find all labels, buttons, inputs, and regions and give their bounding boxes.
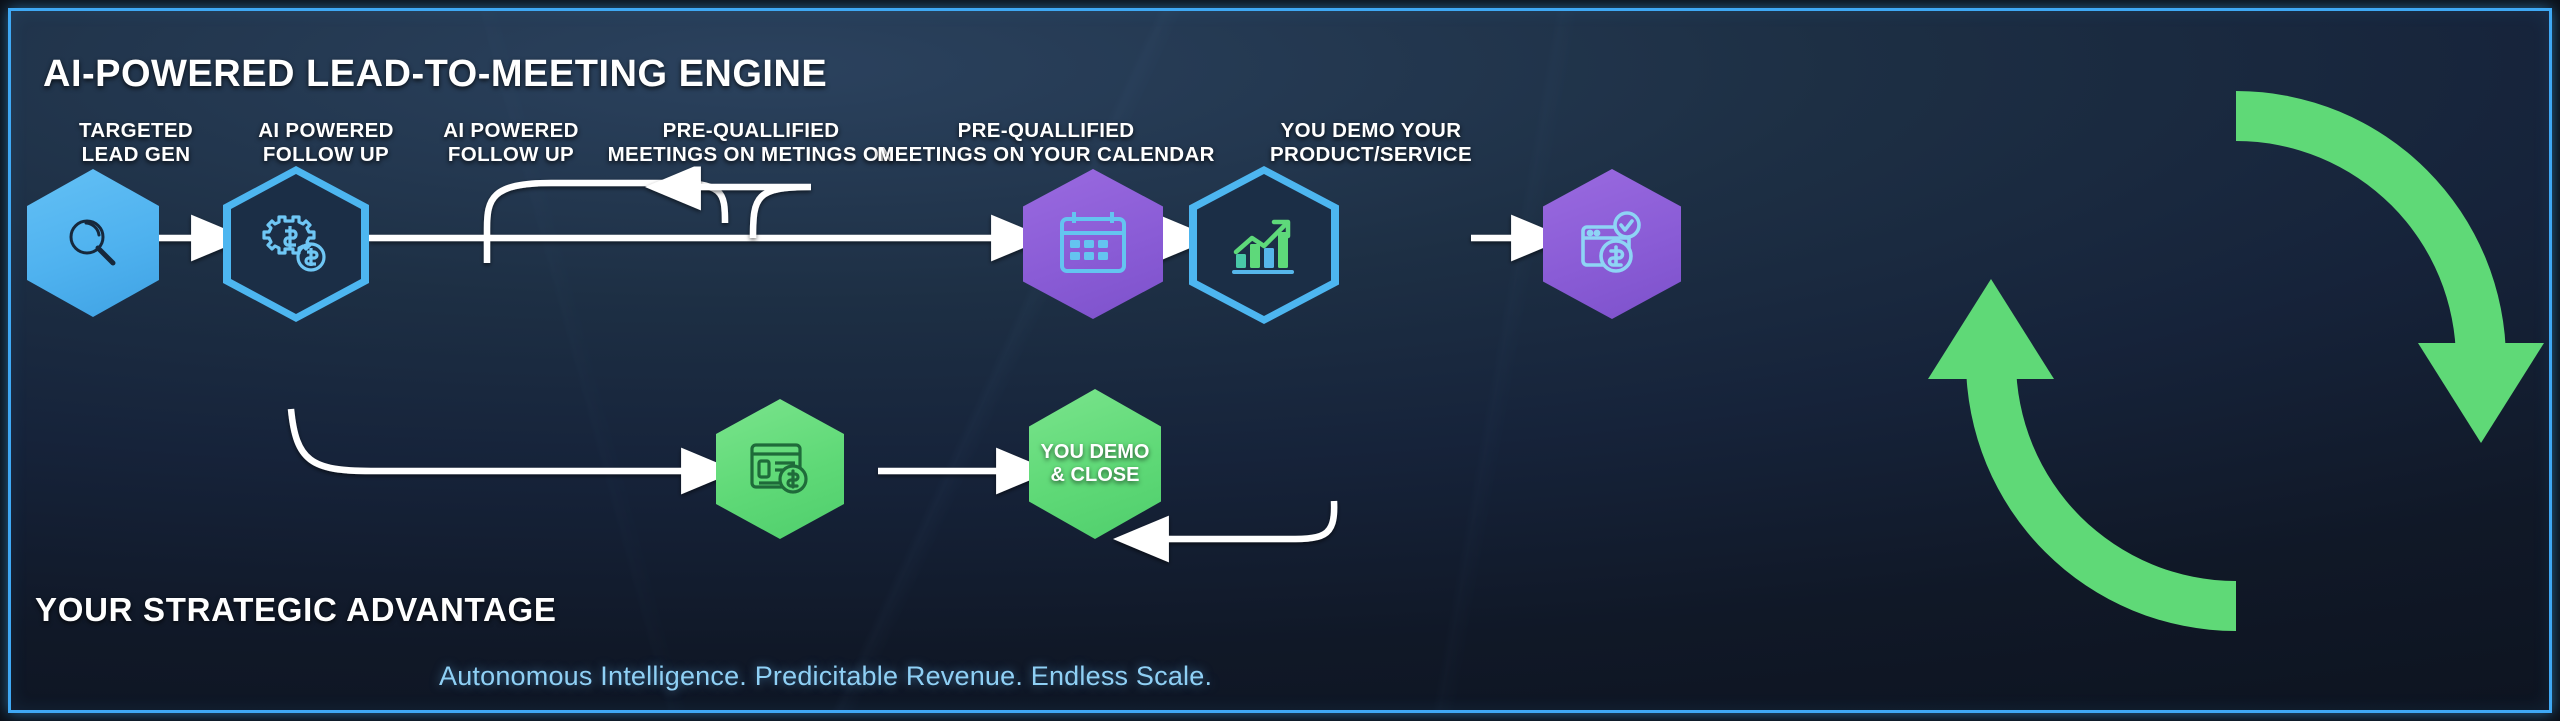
infographic-frame: AI-POWERED LEAD-TO-MEETING ENGINE TARGET… xyxy=(0,0,2560,721)
business-scale-cycle: TARGETED BUSINESS SCALES xyxy=(1926,51,2546,671)
node-demo-close-label: YOU DEMO & CLOSE xyxy=(1041,441,1150,487)
node-proposal[interactable] xyxy=(716,399,844,539)
hex-shape xyxy=(1023,169,1163,319)
gear-dollar-icon xyxy=(259,207,333,281)
strategic-advantage-label: YOUR STRATEGIC ADVANTAGE xyxy=(35,591,557,629)
hex-shape xyxy=(1189,166,1339,324)
step-label-calendar: PRE-QUALLIFIED MEETINGS ON YOUR CALENDAR xyxy=(856,119,1236,167)
step-label-demo-product: YOU DEMO YOUR PRODUCT/SERVICE xyxy=(1201,119,1541,167)
magnifier-icon xyxy=(62,212,124,274)
cycle-arrows-icon xyxy=(1926,51,2546,671)
browser-dollar-check-icon xyxy=(1575,209,1649,279)
node-demo-close[interactable]: YOU DEMO & CLOSE xyxy=(1029,389,1161,539)
page-title: AI-POWERED LEAD-TO-MEETING ENGINE xyxy=(43,53,827,96)
calendar-icon xyxy=(1056,209,1130,279)
node-meetings[interactable] xyxy=(1023,169,1163,319)
hex-shape xyxy=(223,166,369,322)
hex-inner xyxy=(231,174,361,314)
step-label-line2: PRODUCT/SERVICE xyxy=(1201,143,1541,167)
hex-shape: YOU DEMO & CLOSE xyxy=(1029,389,1161,539)
hex-label-line2: & CLOSE xyxy=(1041,464,1150,487)
step-label-line1: PRE-QUALLIFIED xyxy=(856,119,1236,143)
hex-shape xyxy=(27,169,159,317)
tagline: Autonomous Intelligence. Predicitable Re… xyxy=(439,661,1212,692)
step-label-line1: YOU DEMO YOUR xyxy=(1201,119,1541,143)
node-follow-up[interactable] xyxy=(223,166,369,322)
node-lead-gen[interactable] xyxy=(27,169,159,317)
step-label-line2: MEETINGS ON YOUR CALENDAR xyxy=(856,143,1236,167)
invoice-dollar-icon xyxy=(746,437,814,501)
infographic-canvas: AI-POWERED LEAD-TO-MEETING ENGINE TARGET… xyxy=(11,11,2549,710)
node-demo-product[interactable] xyxy=(1543,169,1681,319)
hex-shape xyxy=(716,399,844,539)
hex-label-line1: YOU DEMO xyxy=(1041,441,1150,464)
hex-inner xyxy=(1197,174,1331,316)
growth-chart-icon xyxy=(1226,210,1302,280)
node-calendar[interactable] xyxy=(1189,166,1339,324)
hex-shape xyxy=(1543,169,1681,319)
